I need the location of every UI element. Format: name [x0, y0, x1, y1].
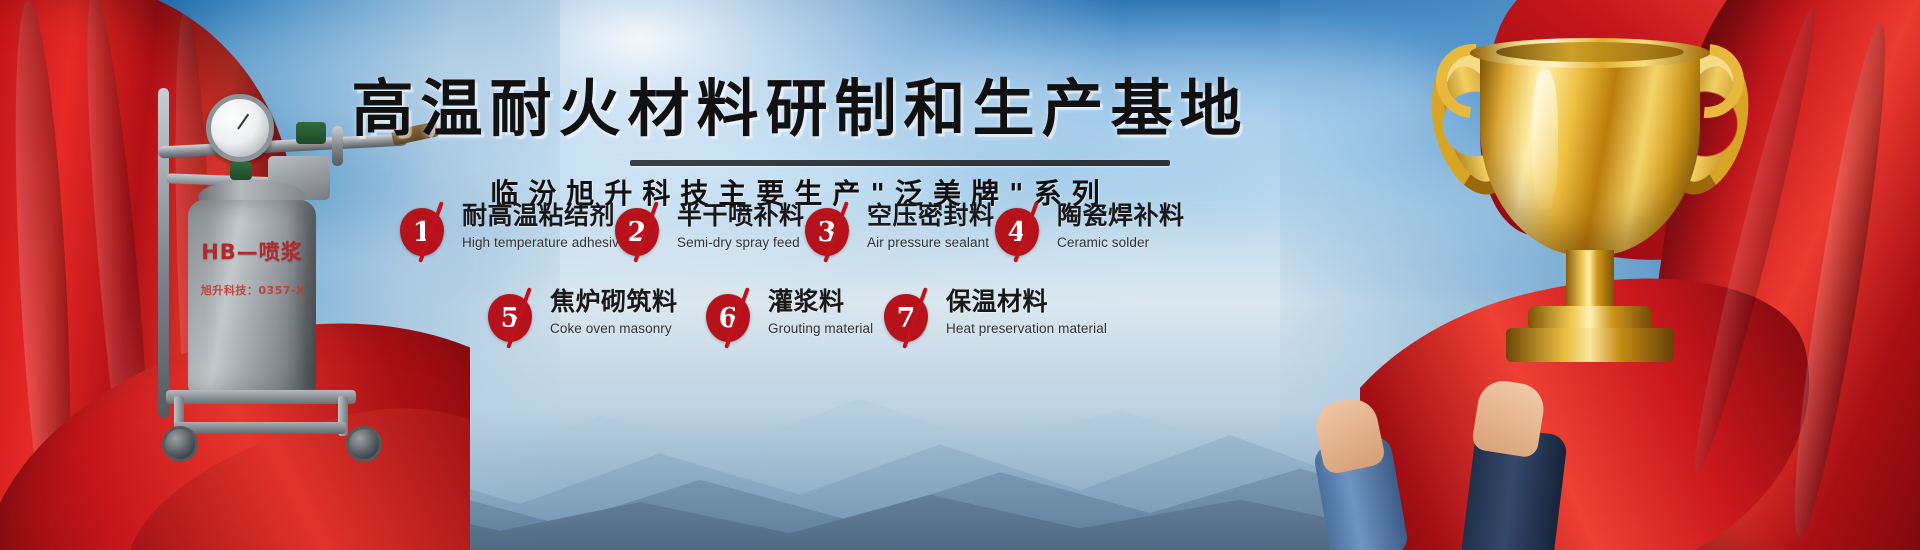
feature-label-cn: 灌浆料 [768, 288, 873, 316]
feature-item-5[interactable]: 5 焦炉砌筑料 Coke oven masonry [488, 286, 706, 352]
feature-label-cn: 耐高温粘结剂 [462, 202, 627, 230]
feature-badge-wrap-3: 3 [805, 204, 861, 266]
feature-label-cn: 焦炉砌筑料 [550, 288, 678, 316]
feature-text-6: 灌浆料 Grouting material [768, 286, 873, 336]
feature-badge-wrap-7: 7 [884, 290, 940, 352]
feature-label-en: Air pressure sealant [867, 235, 995, 250]
feature-text-7: 保温材料 Heat preservation material [946, 286, 1107, 336]
feature-item-3[interactable]: 3 空压密封料 Air pressure sealant [805, 200, 995, 266]
feature-label-en: Heat preservation material [946, 321, 1107, 336]
feature-text-5: 焦炉砌筑料 Coke oven masonry [550, 286, 678, 336]
feature-label-en: Coke oven masonry [550, 321, 678, 336]
feature-item-4[interactable]: 4 陶瓷焊补料 Ceramic solder [995, 200, 1185, 266]
banner-title: 高温耐火材料研制和生产基地 [0, 58, 1600, 148]
feature-label-cn: 半干喷补料 [677, 202, 805, 230]
feature-text-1: 耐高温粘结剂 High temperature adhesive [462, 200, 627, 250]
feature-badge-wrap-1: 1 [400, 204, 456, 266]
feature-badge-wrap-6: 6 [706, 290, 762, 352]
feature-row-2: 5 焦炉砌筑料 Coke oven masonry 6 灌浆料 [488, 286, 1260, 352]
title-divider [630, 160, 1170, 166]
feature-item-1[interactable]: 1 耐高温粘结剂 High temperature adhesive [400, 200, 615, 266]
feature-row-1: 1 耐高温粘结剂 High temperature adhesive 2 半干喷… [400, 200, 1260, 266]
feature-label-cn: 陶瓷焊补料 [1057, 202, 1185, 230]
feature-label-en: Grouting material [768, 321, 873, 336]
feature-label-en: Ceramic solder [1057, 235, 1185, 250]
promo-banner: HB—喷浆 旭升科技：0357-X 高温耐火材料研制和生产基地 临 [0, 0, 1920, 550]
feature-badge-wrap-5: 5 [488, 290, 544, 352]
feature-label-en: Semi-dry spray feed [677, 235, 805, 250]
feature-item-7[interactable]: 7 保温材料 Heat preservation material [884, 286, 1084, 352]
feature-badge-wrap-2: 2 [615, 204, 671, 266]
feature-text-3: 空压密封料 Air pressure sealant [867, 200, 995, 250]
feature-text-4: 陶瓷焊补料 Ceramic solder [1057, 200, 1185, 250]
feature-label-en: High temperature adhesive [462, 235, 627, 250]
feature-item-6[interactable]: 6 灌浆料 Grouting material [706, 286, 884, 352]
feature-item-2[interactable]: 2 半干喷补料 Semi-dry spray feed [615, 200, 805, 266]
feature-label-cn: 空压密封料 [867, 202, 995, 230]
feature-list: 1 耐高温粘结剂 High temperature adhesive 2 半干喷… [400, 200, 1260, 352]
feature-badge-wrap-4: 4 [995, 204, 1051, 266]
banner-content: 高温耐火材料研制和生产基地 临汾旭升科技主要生产"泛美牌"系列 1 耐高温粘结剂… [0, 0, 1920, 550]
feature-label-cn: 保温材料 [946, 288, 1107, 316]
feature-text-2: 半干喷补料 Semi-dry spray feed [677, 200, 805, 250]
